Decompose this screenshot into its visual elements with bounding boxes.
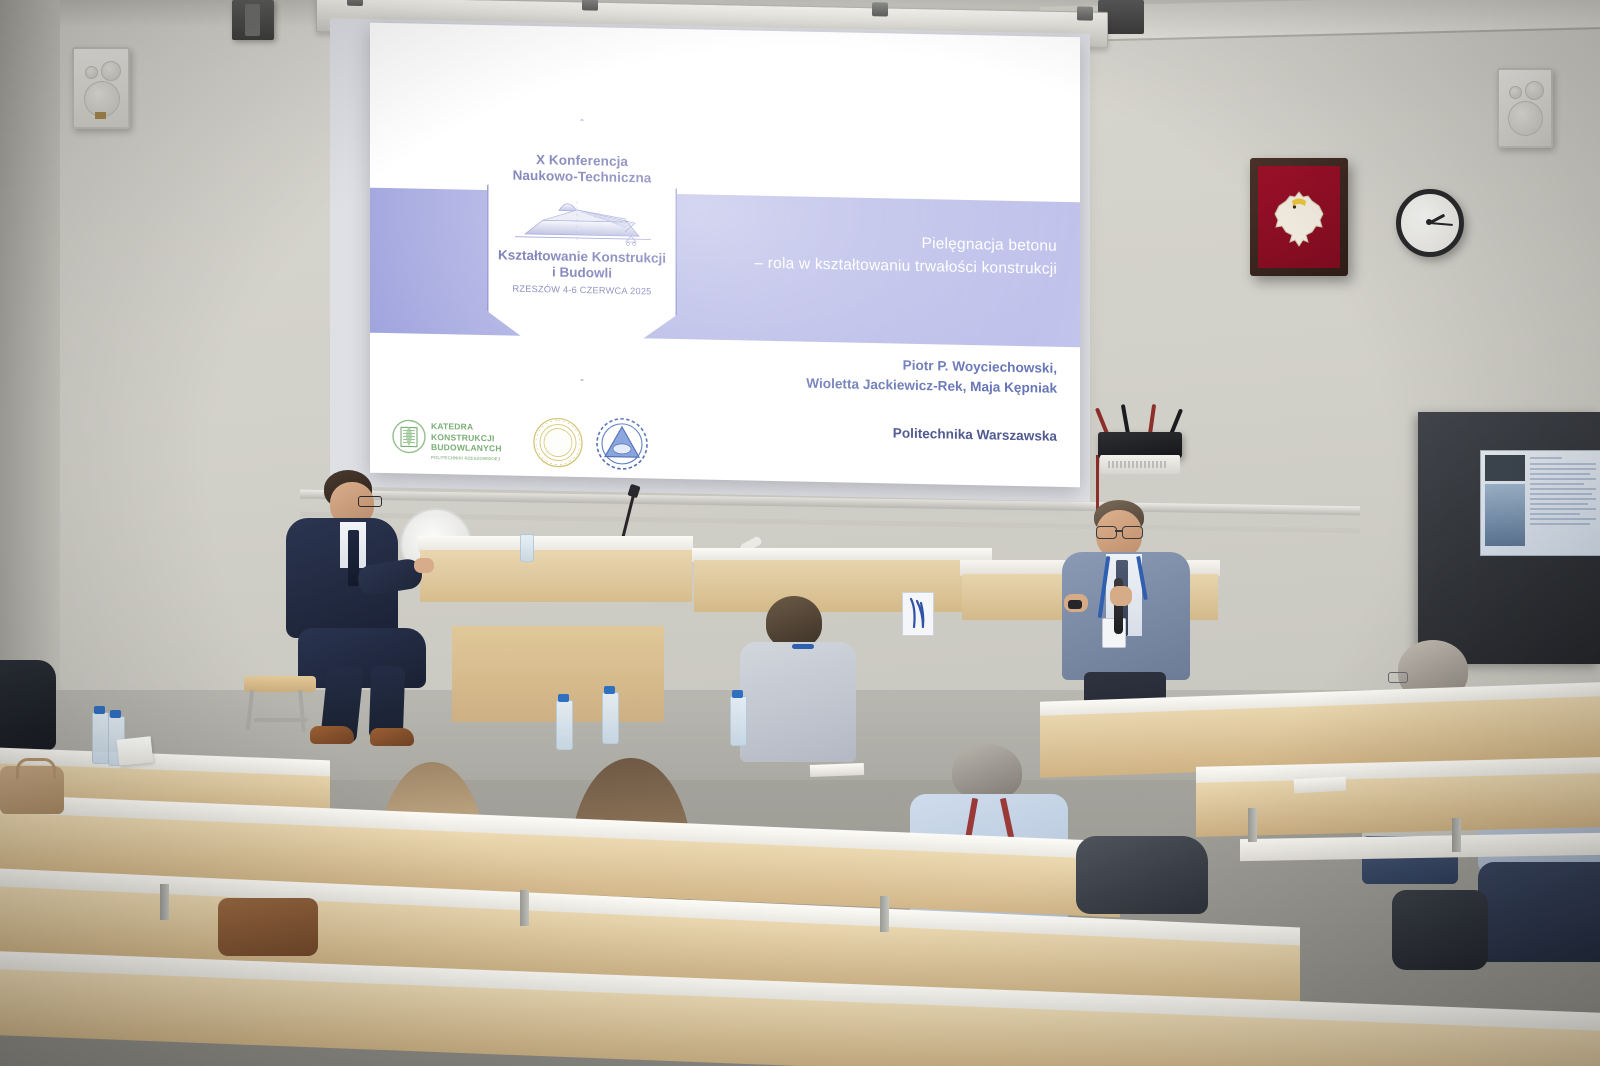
wall-clock bbox=[1396, 189, 1464, 257]
bench-leg-2 bbox=[520, 890, 529, 926]
hex-line1: X Konferencja bbox=[536, 152, 628, 170]
attendee-glasses bbox=[1388, 672, 1408, 683]
wooden-chair bbox=[238, 578, 308, 728]
hex-line2: Naukowo-Techniczna bbox=[513, 168, 652, 187]
ceiling-mount-bracket-left bbox=[232, 0, 274, 40]
clock-minute-hand bbox=[1430, 222, 1453, 226]
water-bottle-1 bbox=[92, 712, 109, 764]
left-edge-dark-shape bbox=[0, 660, 56, 750]
hex-line3: Kształtowanie Konstrukcji bbox=[498, 247, 666, 266]
folded-jacket bbox=[1076, 836, 1208, 914]
person-attendee-front-center bbox=[738, 596, 858, 766]
bottle-cap-3 bbox=[558, 694, 569, 702]
eagle-icon bbox=[1268, 180, 1330, 254]
presenter-glasses bbox=[1096, 526, 1142, 537]
chairman-hand bbox=[414, 558, 434, 573]
conference-poster bbox=[1480, 450, 1600, 556]
lectern-desk-front bbox=[420, 550, 692, 602]
handbag-strap bbox=[16, 758, 56, 779]
bottle-cap-2 bbox=[110, 710, 121, 718]
water-bottle-5 bbox=[730, 696, 747, 746]
attendee-top bbox=[740, 642, 856, 762]
name-card bbox=[117, 736, 154, 765]
projected-slide: X Konferencja Naukowo-Techniczna bbox=[370, 23, 1080, 488]
slide-affiliation: Politechnika Warszawska bbox=[715, 422, 1057, 444]
hex-line4: i Budowli bbox=[552, 264, 612, 281]
wyzsza-szkola-seal-logo bbox=[532, 416, 584, 474]
wall-speaker-right bbox=[1497, 68, 1553, 148]
lecture-hall-photo: X Konferencja Naukowo-Techniczna bbox=[0, 0, 1600, 1066]
bottle-cap-1 bbox=[94, 706, 105, 714]
katedra-logo-text: KATEDRA KONSTRUKCJI BUDOWLANYCH POLITECH… bbox=[431, 421, 515, 465]
circular-seal-icon bbox=[532, 416, 584, 469]
logo-text-4: POLITECHNIKI RZESZOWSKIEJ bbox=[431, 452, 515, 464]
accessibility-icon bbox=[903, 593, 931, 633]
gear-triangle-icon bbox=[594, 415, 650, 472]
building-leaf-icon bbox=[392, 419, 426, 454]
notebook bbox=[810, 763, 864, 777]
attendee-lanyard bbox=[792, 644, 814, 649]
water-bottle-3 bbox=[556, 700, 573, 750]
bottle-cap-5 bbox=[732, 690, 743, 698]
chairman-shoe bbox=[310, 726, 354, 744]
attendee-grey-hair bbox=[952, 744, 1022, 800]
polish-eagle-emblem bbox=[1250, 158, 1348, 276]
chairman-glasses bbox=[358, 496, 382, 507]
water-bottle-4 bbox=[602, 692, 619, 744]
chairman-shoe2 bbox=[370, 728, 414, 746]
conference-hex-logo: X Konferencja Naukowo-Techniczna bbox=[487, 117, 677, 383]
slide-title: Pielęgnacja betonu – rola w kształtowani… bbox=[725, 228, 1057, 282]
wall-speaker-left bbox=[72, 47, 130, 129]
presenter-hand-mic bbox=[1110, 586, 1132, 606]
bench-leg-4 bbox=[1248, 808, 1257, 842]
backpack bbox=[1392, 890, 1488, 970]
lectern-desk-lower bbox=[420, 600, 692, 628]
left-wall bbox=[0, 0, 60, 720]
katedra-konstrukcji-budowlanych-logo bbox=[392, 419, 426, 459]
leather-bag-2 bbox=[218, 898, 318, 956]
bench-leg-5 bbox=[1452, 818, 1461, 852]
attendee-hair bbox=[766, 596, 822, 648]
presentation-clicker bbox=[1068, 600, 1082, 609]
bottle-cap-4 bbox=[604, 686, 615, 694]
slide-logo-row: KATEDRA KONSTRUKCJI BUDOWLANYCH POLITECH… bbox=[392, 411, 692, 479]
structure-illustration bbox=[507, 190, 657, 249]
attendee-jacket-navy bbox=[1478, 862, 1600, 962]
bench-leg-3 bbox=[880, 896, 889, 932]
hex-date: RZESZÓW 4-6 CZERWCA 2025 bbox=[512, 284, 651, 297]
router-wall-mount bbox=[1100, 455, 1180, 474]
accessibility-sticker bbox=[902, 592, 934, 636]
slide-authors: Piotr P. Woyciechowski, Wioletta Jackiew… bbox=[715, 352, 1057, 399]
pzitb-oddzial-rzeszow-logo bbox=[594, 415, 650, 477]
bench-leg-1 bbox=[160, 884, 169, 920]
papers-on-desk bbox=[1294, 777, 1347, 794]
water-bottle-6 bbox=[520, 534, 534, 562]
